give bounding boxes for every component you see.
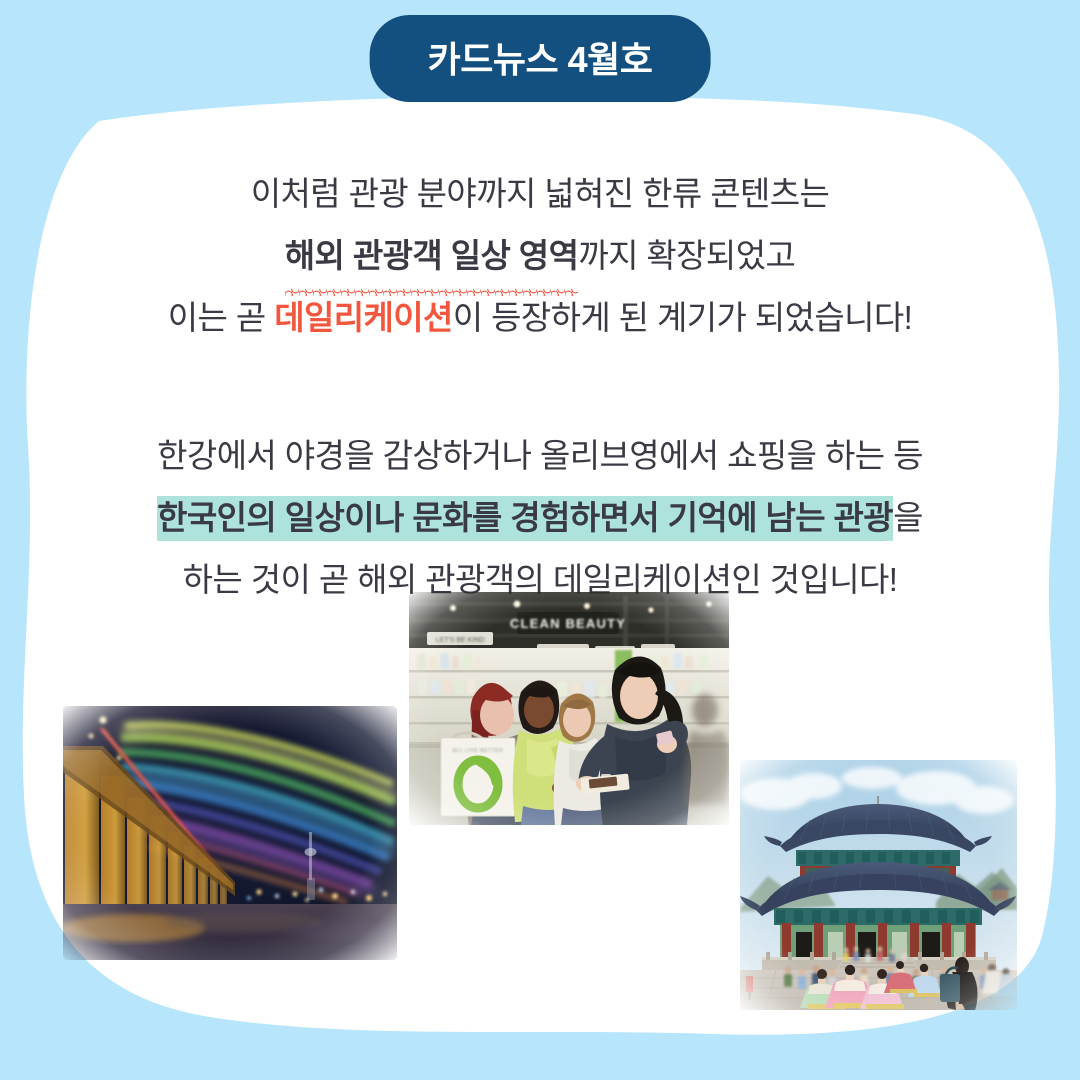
body-copy: 이처럼 관광 분야까지 넓혀진 한류 콘텐츠는 해외 관광객 일상 영역까지 확… [0, 163, 1080, 611]
paragraph-2-line-2: 한국인의 일상이나 문화를 경험하면서 기억에 남는 관광을 [0, 487, 1080, 549]
p1-l2-rest: 까지 확장되었고 [578, 237, 795, 274]
paragraph-1-line-1: 이처럼 관광 분야까지 넓혀진 한류 콘텐츠는 [0, 163, 1080, 225]
p2-l2-highlighted-phrase: 한국인의 일상이나 문화를 경험하면서 기억에 남는 관광 [157, 496, 893, 541]
paragraph-1-line-3: 이는 곧 데일리케이션이 등장하게 된 계기가 되었습니다! [0, 287, 1080, 349]
oliveyoung-illustration: CLEAN BEAUTY LET'S BE KIND [409, 592, 729, 825]
photo-oliveyoung-shopping: CLEAN BEAUTY LET'S BE KIND [409, 592, 729, 825]
photo-hangang-night-fountain [63, 706, 397, 960]
svg-text:CLEAN BEAUTY: CLEAN BEAUTY [510, 616, 626, 631]
paragraph-2: 한강에서 야경을 감상하거나 올리브영에서 쇼핑을 하는 등 한국인의 일상이나… [0, 425, 1080, 611]
oliveyoung-shopping-bag: ALL LIVE BETTER [441, 733, 515, 816]
svg-text:LET'S BE KIND: LET'S BE KIND [436, 637, 485, 644]
clean-beauty-sign: CLEAN BEAUTY [510, 612, 626, 634]
p1-l3-suffix: 이 등장하게 된 계기가 되었습니다! [453, 299, 912, 336]
photo-gyeongbokgung-palace [740, 760, 1017, 1010]
p2-l1-text: 한강에서 야경을 감상하거나 올리브영에서 쇼핑을 하는 등 [157, 437, 923, 474]
p1-l2-underlined-phrase: 해외 관광객 일상 영역 [285, 225, 579, 287]
svg-text:ALL LIVE BETTER: ALL LIVE BETTER [452, 748, 503, 754]
paragraph-1: 이처럼 관광 분야까지 넓혀진 한류 콘텐츠는 해외 관광객 일상 영역까지 확… [0, 163, 1080, 349]
p1-l3-accent-term: 데일리케이션 [274, 299, 453, 336]
p1-l1-text: 이처럼 관광 분야까지 넓혀진 한류 콘텐츠는 [251, 175, 830, 212]
hangang-illustration [63, 706, 397, 960]
p2-l2-rest: 을 [893, 499, 923, 536]
p1-l3-prefix: 이는 곧 [168, 299, 274, 336]
header-badge: 카드뉴스 4월호 [370, 15, 711, 102]
paragraph-spacer [0, 349, 1080, 425]
gyeongbokgung-illustration [740, 760, 1017, 1010]
paragraph-1-line-2: 해외 관광객 일상 영역까지 확장되었고 [0, 225, 1080, 287]
paragraph-2-line-1: 한강에서 야경을 감상하거나 올리브영에서 쇼핑을 하는 등 [0, 425, 1080, 487]
